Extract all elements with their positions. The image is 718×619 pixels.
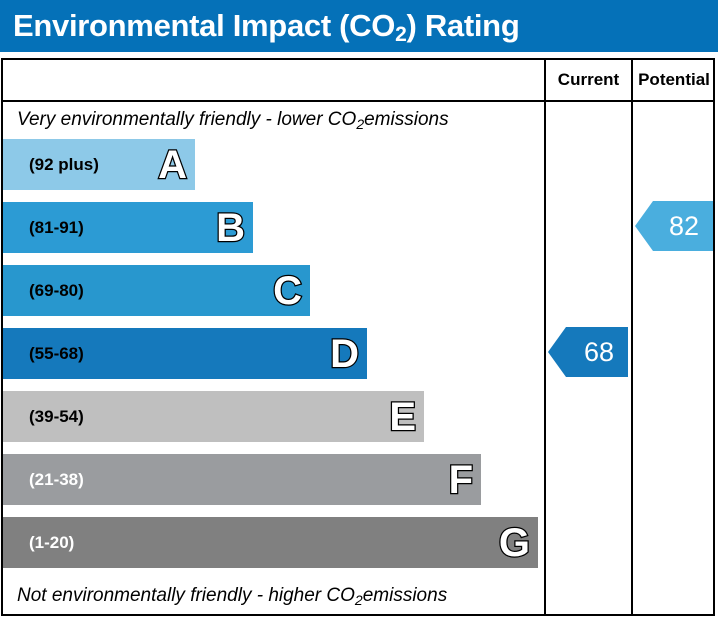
band-letter-f: F	[449, 460, 473, 500]
band-range-a: (92 plus)	[3, 155, 99, 175]
band-row-g: (1-20)G	[3, 517, 538, 568]
page-title: Environmental Impact (CO2) Rating	[0, 8, 519, 44]
title-suffix: ) Rating	[406, 8, 519, 43]
column-divider-current	[544, 60, 546, 614]
rating-marker-potential: 82	[635, 201, 713, 251]
caption-top: Very environmentally friendly - lower CO…	[3, 102, 544, 138]
band-row-c: (69-80)C	[3, 265, 310, 316]
band-letter-g: G	[499, 523, 530, 563]
title-prefix: Environmental Impact (CO	[13, 8, 395, 43]
caption-top-suffix: emissions	[364, 109, 448, 131]
caption-bottom-prefix: Not environmentally friendly - higher CO	[17, 585, 355, 607]
band-range-c: (69-80)	[3, 281, 84, 301]
rating-marker-current: 68	[548, 327, 628, 377]
band-row-d: (55-68)D	[3, 328, 367, 379]
band-range-g: (1-20)	[3, 533, 74, 553]
band-letter-b: B	[216, 208, 245, 248]
rating-table: Current Potential Very environmentally f…	[1, 58, 715, 616]
band-list: (92 plus)A(81-91)B(69-80)C(55-68)D(39-54…	[3, 139, 544, 578]
band-range-b: (81-91)	[3, 218, 84, 238]
caption-bottom-suffix: emissions	[363, 585, 447, 607]
band-letter-e: E	[389, 397, 416, 437]
epc-environmental-impact-chart: Environmental Impact (CO2) Rating Curren…	[0, 0, 718, 619]
band-row-f: (21-38)F	[3, 454, 481, 505]
band-row-b: (81-91)B	[3, 202, 253, 253]
band-row-e: (39-54)E	[3, 391, 424, 442]
caption-bottom: Not environmentally friendly - higher CO…	[3, 578, 544, 614]
column-header-potential: Potential	[633, 60, 715, 100]
caption-bottom-subscript: 2	[355, 592, 363, 608]
band-row-a: (92 plus)A	[3, 139, 195, 190]
column-header-current: Current	[546, 60, 631, 100]
band-range-f: (21-38)	[3, 470, 84, 490]
band-letter-a: A	[158, 145, 187, 185]
band-range-e: (39-54)	[3, 407, 84, 427]
band-range-d: (55-68)	[3, 344, 84, 364]
column-divider-potential	[631, 60, 633, 614]
title-subscript: 2	[395, 23, 406, 46]
caption-top-subscript: 2	[356, 116, 364, 132]
chart-title-bar: Environmental Impact (CO2) Rating	[0, 0, 718, 52]
band-letter-d: D	[330, 334, 359, 374]
caption-top-prefix: Very environmentally friendly - lower CO	[17, 109, 356, 131]
band-letter-c: C	[273, 271, 302, 311]
